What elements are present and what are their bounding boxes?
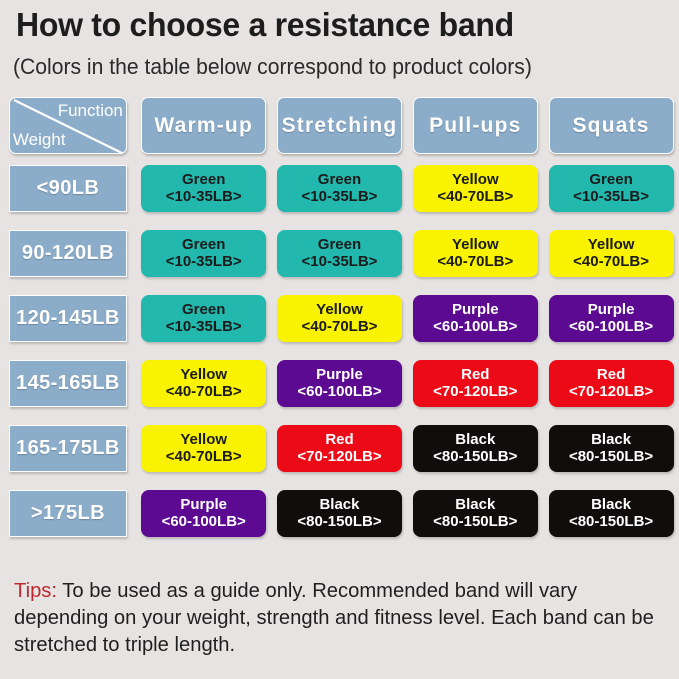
band-color-name: Black [591, 432, 631, 449]
weight-label-cell: <90LB [9, 165, 127, 212]
table-row: 120-145LBGreen<10-35LB>Yellow<40-70LB>Pu… [0, 295, 679, 360]
band-cell: Red<70-120LB> [549, 360, 674, 407]
band-resistance-range: <10-35LB> [166, 254, 242, 271]
band-color-name: Yellow [180, 432, 227, 449]
band-color-name: Yellow [180, 367, 227, 384]
band-cell: Yellow<40-70LB> [277, 295, 402, 342]
band-cell-wrap: Yellow<40-70LB> [407, 230, 543, 277]
band-cell: Red<70-120LB> [277, 425, 402, 472]
weight-label-cell: >175LB [9, 490, 127, 537]
resistance-band-table: Function Weight Warm-up Stretching Pull-… [0, 97, 679, 555]
band-color-name: Yellow [588, 237, 635, 254]
weight-label-cell: 145-165LB [9, 360, 127, 407]
band-resistance-range: <40-70LB> [437, 254, 513, 271]
band-color-name: Yellow [452, 172, 499, 189]
band-resistance-range: <40-70LB> [302, 319, 378, 336]
band-color-name: Green [318, 172, 361, 189]
band-cell: Yellow<40-70LB> [413, 230, 538, 277]
band-cell-wrap: Red<70-120LB> [272, 425, 408, 472]
band-color-name: Purple [316, 367, 363, 384]
tips-label: Tips: [14, 579, 57, 602]
band-cell: Yellow<40-70LB> [413, 165, 538, 212]
band-color-name: Red [461, 367, 489, 384]
band-resistance-range: <70-120LB> [297, 449, 381, 466]
band-cell: Green<10-35LB> [549, 165, 674, 212]
table-body: <90LBGreen<10-35LB>Green<10-35LB>Yellow<… [0, 165, 679, 555]
corner-function-label: Function [58, 102, 123, 119]
band-cell: Green<10-35LB> [141, 230, 266, 277]
table-row: >175LBPurple<60-100LB>Black<80-150LB>Bla… [0, 490, 679, 555]
band-resistance-range: <40-70LB> [166, 449, 242, 466]
band-cell-wrap: Green<10-35LB> [136, 230, 272, 277]
band-resistance-range: <80-150LB> [569, 449, 653, 466]
weight-label-cell: 120-145LB [9, 295, 127, 342]
column-header-warm-up: Warm-up [141, 97, 266, 154]
weight-label-cell: 165-175LB [9, 425, 127, 472]
header-cell-wrap-3: Squats [543, 97, 679, 154]
resistance-band-chart: How to choose a resistance band (Colors … [0, 0, 679, 679]
band-color-name: Purple [180, 497, 227, 514]
band-color-name: Purple [452, 302, 499, 319]
band-color-name: Green [589, 172, 632, 189]
band-cell-wrap: Purple<60-100LB> [543, 295, 679, 342]
weight-cell-wrap: >175LB [0, 490, 136, 537]
column-header-stretching: Stretching [277, 97, 402, 154]
band-cell: Yellow<40-70LB> [141, 425, 266, 472]
band-color-name: Green [182, 302, 225, 319]
weight-label-cell: 90-120LB [9, 230, 127, 277]
band-cell-wrap: Black<80-150LB> [543, 425, 679, 472]
band-cell-wrap: Black<80-150LB> [407, 425, 543, 472]
band-cell-wrap: Black<80-150LB> [272, 490, 408, 537]
band-color-name: Purple [588, 302, 635, 319]
band-color-name: Black [591, 497, 631, 514]
band-color-name: Yellow [316, 302, 363, 319]
band-resistance-range: <60-100LB> [162, 514, 246, 531]
band-cell-wrap: Green<10-35LB> [543, 165, 679, 212]
band-cell-wrap: Purple<60-100LB> [407, 295, 543, 342]
band-resistance-range: <40-70LB> [166, 384, 242, 401]
band-resistance-range: <40-70LB> [573, 254, 649, 271]
band-cell: Black<80-150LB> [549, 490, 674, 537]
band-cell-wrap: Yellow<40-70LB> [543, 230, 679, 277]
band-cell: Purple<60-100LB> [277, 360, 402, 407]
band-cell-wrap: Green<10-35LB> [272, 165, 408, 212]
header-cell-wrap-2: Pull-ups [407, 97, 543, 154]
header-cell-wrap-1: Stretching [272, 97, 408, 154]
band-color-name: Black [319, 497, 359, 514]
band-color-name: Red [325, 432, 353, 449]
band-resistance-range: <70-120LB> [433, 384, 517, 401]
weight-cell-wrap: <90LB [0, 165, 136, 212]
band-cell: Purple<60-100LB> [549, 295, 674, 342]
band-color-name: Green [182, 237, 225, 254]
band-cell-wrap: Yellow<40-70LB> [136, 360, 272, 407]
band-resistance-range: <10-35LB> [302, 254, 378, 271]
band-cell: Black<80-150LB> [413, 490, 538, 537]
band-cell-wrap: Yellow<40-70LB> [272, 295, 408, 342]
band-cell: Green<10-35LB> [141, 295, 266, 342]
table-row: <90LBGreen<10-35LB>Green<10-35LB>Yellow<… [0, 165, 679, 230]
band-resistance-range: <40-70LB> [437, 189, 513, 206]
band-cell: Yellow<40-70LB> [549, 230, 674, 277]
table-header-row: Function Weight Warm-up Stretching Pull-… [0, 97, 679, 165]
table-row: 165-175LBYellow<40-70LB>Red<70-120LB>Bla… [0, 425, 679, 490]
band-resistance-range: <60-100LB> [569, 319, 653, 336]
band-resistance-range: <60-100LB> [433, 319, 517, 336]
weight-cell-wrap: 90-120LB [0, 230, 136, 277]
band-color-name: Black [455, 497, 495, 514]
table-row: 90-120LBGreen<10-35LB>Green<10-35LB>Yell… [0, 230, 679, 295]
band-cell-wrap: Green<10-35LB> [136, 295, 272, 342]
band-resistance-range: <70-120LB> [569, 384, 653, 401]
weight-cell-wrap: 120-145LB [0, 295, 136, 342]
band-cell: Green<10-35LB> [277, 230, 402, 277]
band-resistance-range: <10-35LB> [166, 319, 242, 336]
band-cell-wrap: Green<10-35LB> [136, 165, 272, 212]
band-cell-wrap: Green<10-35LB> [272, 230, 408, 277]
band-resistance-range: <80-150LB> [297, 514, 381, 531]
corner-weight-label: Weight [13, 131, 66, 148]
page-subtitle: (Colors in the table below correspond to… [13, 54, 651, 80]
corner-cell-wrap: Function Weight [0, 97, 136, 154]
band-cell: Black<80-150LB> [413, 425, 538, 472]
band-cell-wrap: Red<70-120LB> [407, 360, 543, 407]
band-cell-wrap: Red<70-120LB> [543, 360, 679, 407]
band-cell: Green<10-35LB> [277, 165, 402, 212]
band-cell-wrap: Black<80-150LB> [543, 490, 679, 537]
page-title: How to choose a resistance band [16, 6, 651, 44]
band-cell-wrap: Purple<60-100LB> [136, 490, 272, 537]
weight-cell-wrap: 145-165LB [0, 360, 136, 407]
column-header-pull-ups: Pull-ups [413, 97, 538, 154]
tips-text: To be used as a guide only. Recommended … [14, 579, 654, 656]
table-row: 145-165LBYellow<40-70LB>Purple<60-100LB>… [0, 360, 679, 425]
band-color-name: Red [597, 367, 625, 384]
band-color-name: Green [182, 172, 225, 189]
band-resistance-range: <10-35LB> [166, 189, 242, 206]
band-cell: Black<80-150LB> [277, 490, 402, 537]
band-resistance-range: <60-100LB> [297, 384, 381, 401]
band-cell: Black<80-150LB> [549, 425, 674, 472]
header-cell-wrap-0: Warm-up [136, 97, 272, 154]
column-header-squats: Squats [549, 97, 674, 154]
band-color-name: Yellow [452, 237, 499, 254]
band-resistance-range: <80-150LB> [569, 514, 653, 531]
band-color-name: Black [455, 432, 495, 449]
band-cell: Green<10-35LB> [141, 165, 266, 212]
band-cell: Red<70-120LB> [413, 360, 538, 407]
band-cell: Yellow<40-70LB> [141, 360, 266, 407]
corner-header-cell: Function Weight [9, 97, 127, 154]
band-resistance-range: <10-35LB> [302, 189, 378, 206]
band-resistance-range: <80-150LB> [433, 449, 517, 466]
weight-cell-wrap: 165-175LB [0, 425, 136, 472]
tips-block: Tips: To be used as a guide only. Recomm… [14, 577, 664, 658]
band-color-name: Green [318, 237, 361, 254]
band-resistance-range: <10-35LB> [573, 189, 649, 206]
band-cell-wrap: Purple<60-100LB> [272, 360, 408, 407]
band-cell: Purple<60-100LB> [141, 490, 266, 537]
band-cell: Purple<60-100LB> [413, 295, 538, 342]
band-cell-wrap: Yellow<40-70LB> [407, 165, 543, 212]
band-cell-wrap: Yellow<40-70LB> [136, 425, 272, 472]
band-cell-wrap: Black<80-150LB> [407, 490, 543, 537]
band-resistance-range: <80-150LB> [433, 514, 517, 531]
